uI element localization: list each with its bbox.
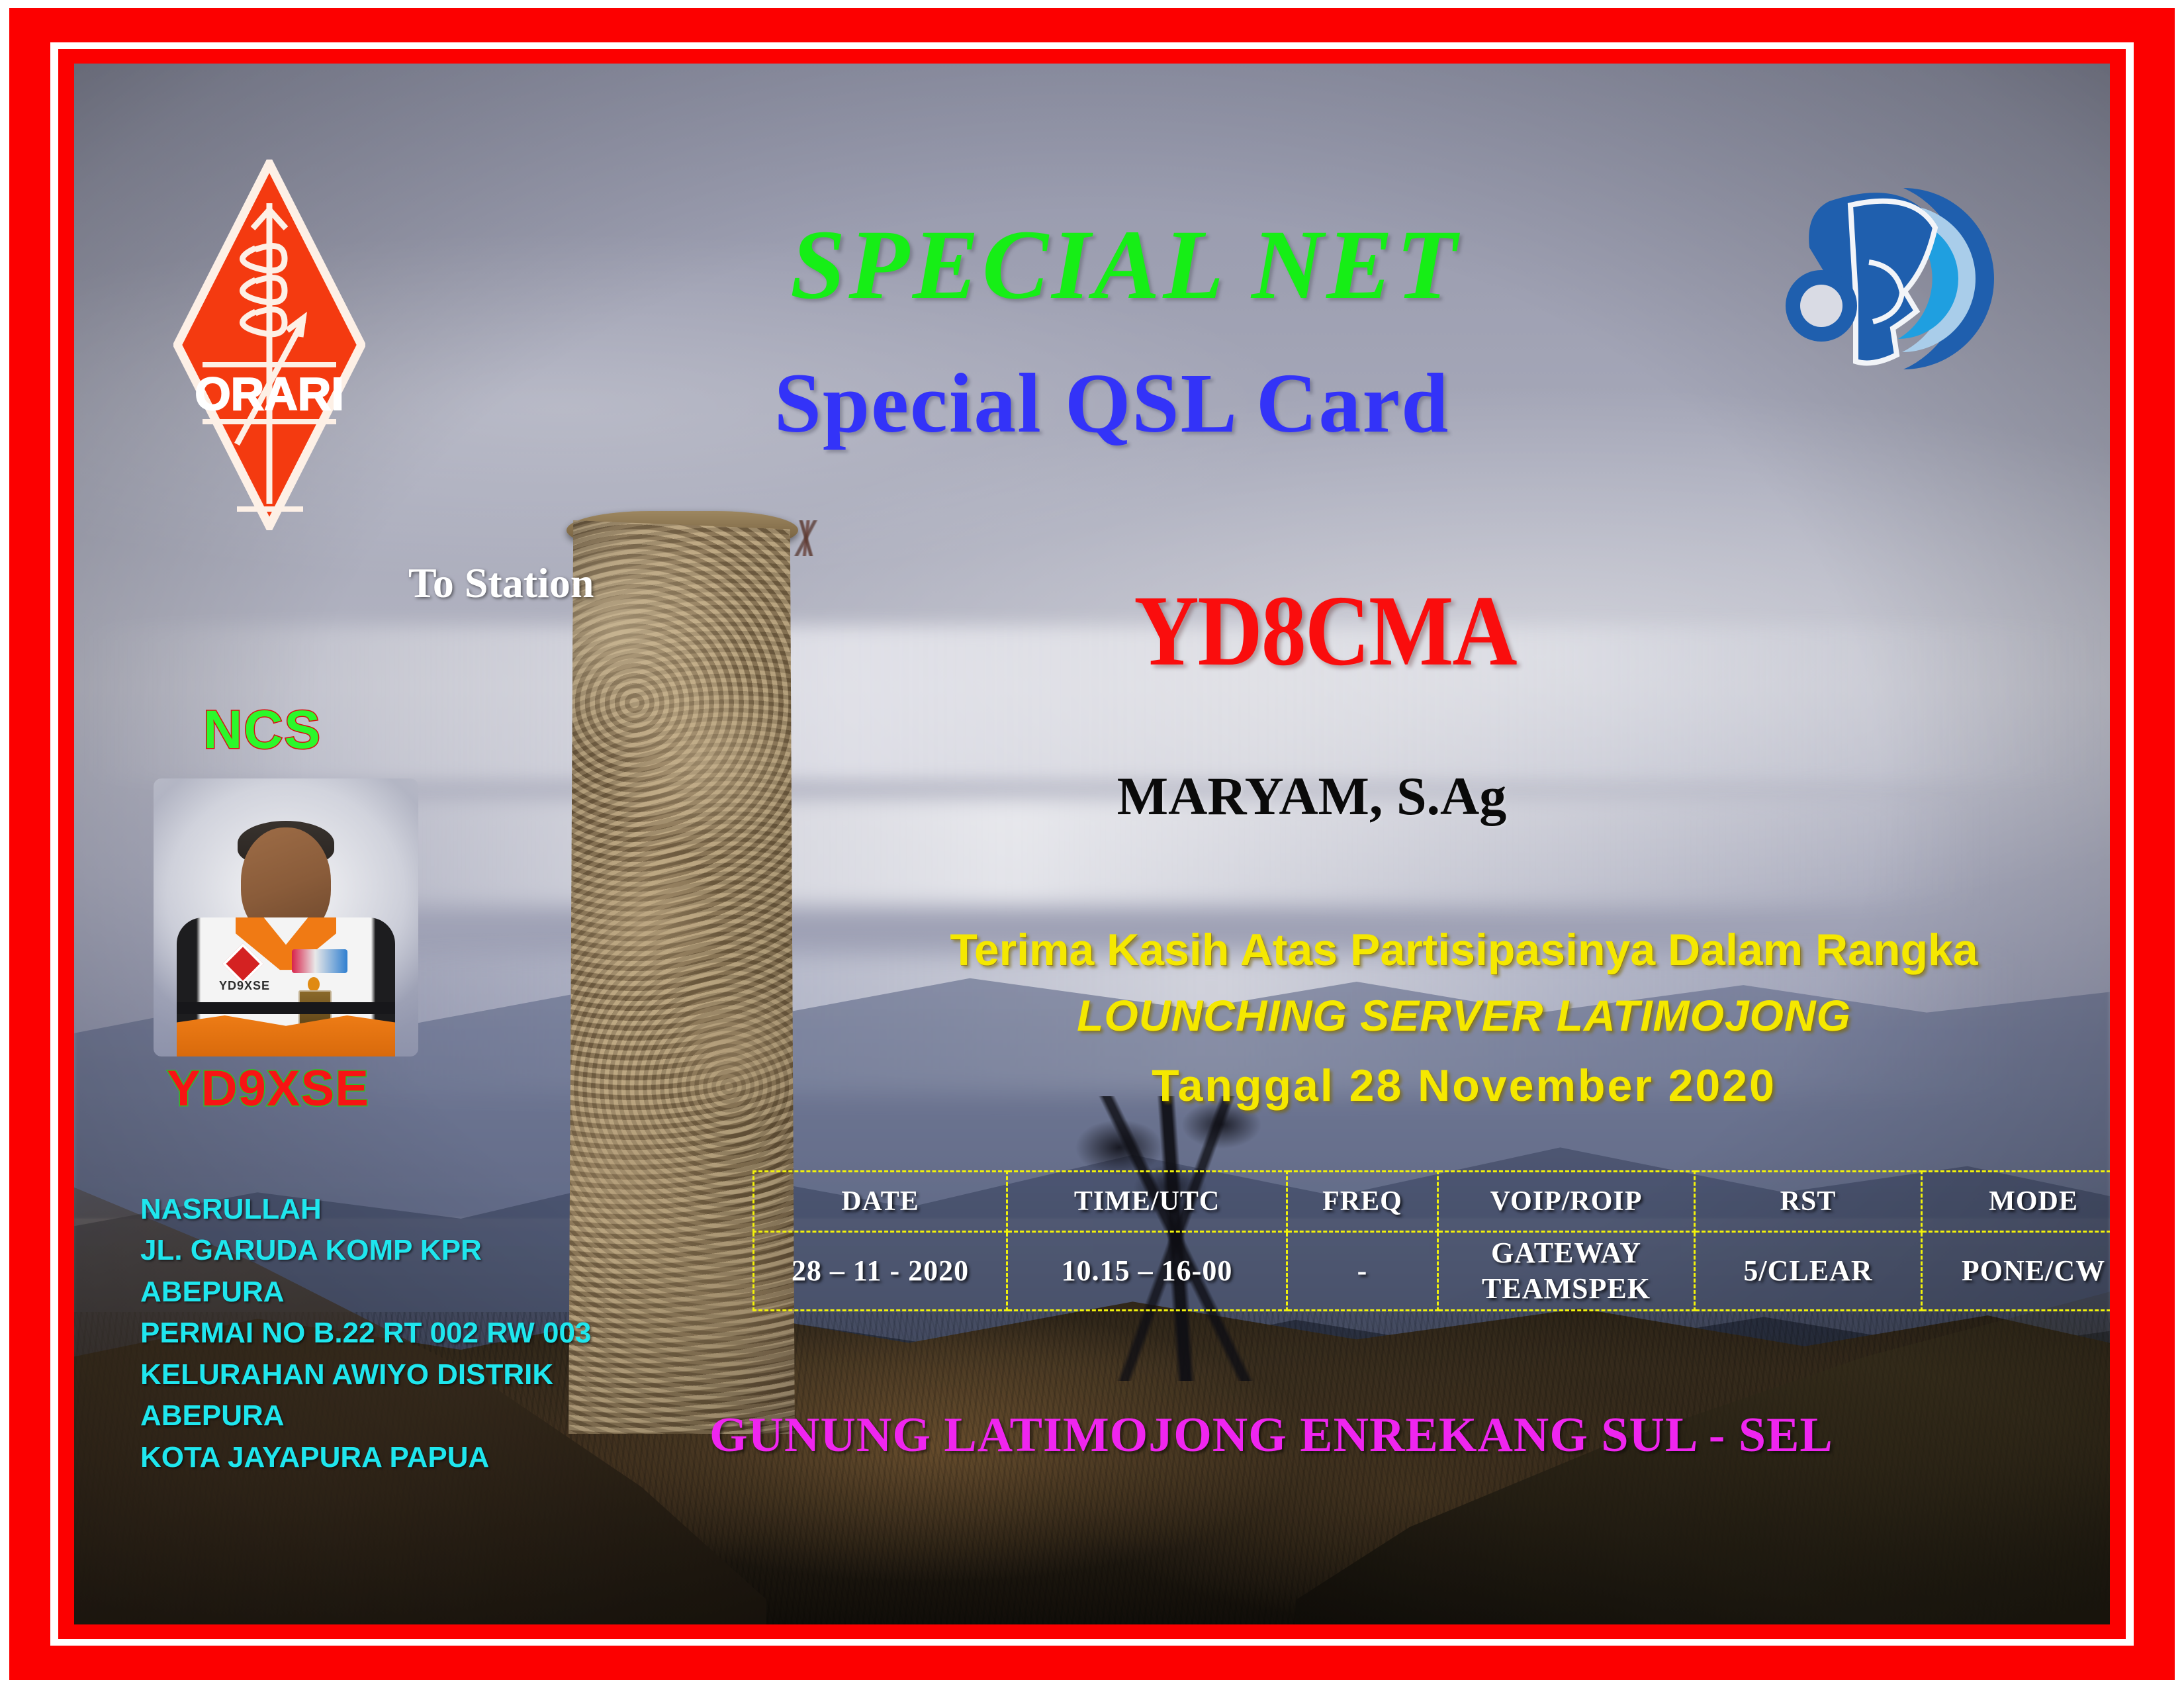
ncs-label: NCS xyxy=(203,699,322,761)
cell-voip-line2: TEAMSPEK xyxy=(1482,1272,1651,1305)
address-line: PERMAI NO B.22 RT 002 RW 003 xyxy=(140,1313,591,1354)
station-callsign: YD8CMA xyxy=(1027,573,1623,689)
card-photo-background: ORARI xyxy=(74,64,2110,1624)
cell-date: 28 – 11 - 2020 xyxy=(754,1232,1007,1311)
qso-table-header: DATE TIME/UTC FREQ VOIP/ROIP RST MODE xyxy=(754,1172,2111,1232)
inner-red-border: ORARI xyxy=(58,49,2126,1639)
qso-table-body: 28 – 11 - 2020 10.15 – 16-00 - GATEWAY T… xyxy=(754,1232,2111,1311)
col-header-freq: FREQ xyxy=(1287,1172,1438,1232)
col-header-voip: VOIP/ROIP xyxy=(1438,1172,1695,1232)
address-line: KOTA JAYAPURA PAPUA xyxy=(140,1437,591,1478)
col-header-rst: RST xyxy=(1695,1172,1922,1232)
ncs-operator-photo: YD9XSE xyxy=(154,778,418,1056)
sender-address: NASRULLAHJL. GARUDA KOMP KPRABEPURAPERMA… xyxy=(140,1189,591,1478)
cell-voip: GATEWAY TEAMSPEK xyxy=(1438,1232,1695,1311)
qsl-card: ORARI xyxy=(0,0,2184,1688)
address-line: ABEPURA xyxy=(140,1272,591,1313)
photo-uniform: YD9XSE xyxy=(177,917,395,1056)
address-line: ABEPURA xyxy=(140,1395,591,1436)
event-thanks-line: Terima Kasih Atas Partisipasinya Dalam R… xyxy=(802,924,2110,976)
address-line: NASRULLAH xyxy=(140,1189,591,1230)
table-row: 28 – 11 - 2020 10.15 – 16-00 - GATEWAY T… xyxy=(754,1232,2111,1311)
to-station-label: To Station xyxy=(408,559,594,608)
cell-freq: - xyxy=(1287,1232,1438,1311)
ncs-callsign: YD9XSE xyxy=(167,1060,369,1117)
photo-sash xyxy=(177,1013,395,1056)
photo-org-patch xyxy=(292,949,347,973)
white-border-gap: ORARI xyxy=(50,42,2134,1646)
col-header-time: TIME/UTC xyxy=(1007,1172,1287,1232)
col-header-mode: MODE xyxy=(1922,1172,2111,1232)
location-line: GUNUNG LATIMOJONG ENREKANG SUL - SEL xyxy=(709,1407,1833,1464)
cell-mode: PONE/CW xyxy=(1922,1232,2111,1311)
operator-name: MARYAM, S.Ag xyxy=(1014,765,1610,827)
cell-rst: 5/CLEAR xyxy=(1695,1232,1922,1311)
col-header-date: DATE xyxy=(754,1172,1007,1232)
page-subtitle: Special QSL Card xyxy=(74,355,2110,452)
event-date-line: Tanggal 28 November 2020 xyxy=(802,1060,2110,1111)
cell-voip-line1: GATEWAY xyxy=(1491,1237,1641,1269)
table-header-row: DATE TIME/UTC FREQ VOIP/ROIP RST MODE xyxy=(754,1172,2111,1232)
photo-callsign-patch: YD9XSE xyxy=(219,979,270,993)
page-title: SPECIAL NET xyxy=(74,208,2110,322)
cell-time: 10.15 – 16-00 xyxy=(1007,1232,1287,1311)
address-line: JL. GARUDA KOMP KPR xyxy=(140,1230,591,1271)
qso-details-table: DATE TIME/UTC FREQ VOIP/ROIP RST MODE 28… xyxy=(752,1170,2110,1311)
photo-lanyard-clip xyxy=(308,977,320,992)
photo-belt xyxy=(177,1002,395,1014)
address-line: KELURAHAN AWIYO DISTRIK xyxy=(140,1354,591,1395)
event-title-line: LOUNCHING SERVER LATIMOJONG xyxy=(802,990,2110,1041)
outer-red-border: ORARI xyxy=(9,8,2175,1680)
